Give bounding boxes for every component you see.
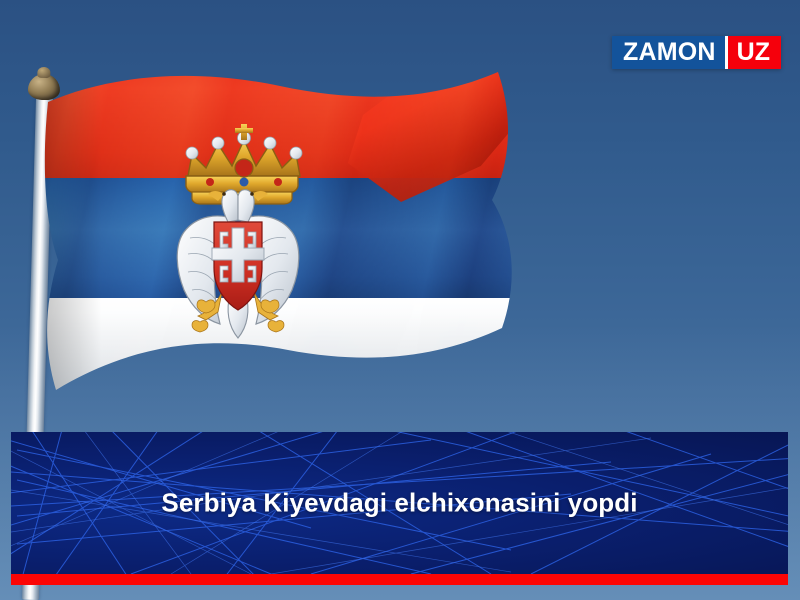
- logo-secondary-text: UZ: [728, 36, 781, 69]
- logo-primary-text: ZAMON: [612, 36, 725, 69]
- headline-banner: Serbiya Kiyevdagi elchixonasini yopdi: [11, 432, 788, 574]
- accent-bar: [11, 574, 788, 585]
- news-card: ZAMON UZ: [0, 0, 800, 600]
- serbian-flag: [44, 60, 524, 420]
- coat-of-arms-of-serbia-icon: [162, 124, 314, 344]
- zamon-uz-logo[interactable]: ZAMON UZ: [612, 36, 781, 69]
- headline-text: Serbiya Kiyevdagi elchixonasini yopdi: [11, 488, 788, 519]
